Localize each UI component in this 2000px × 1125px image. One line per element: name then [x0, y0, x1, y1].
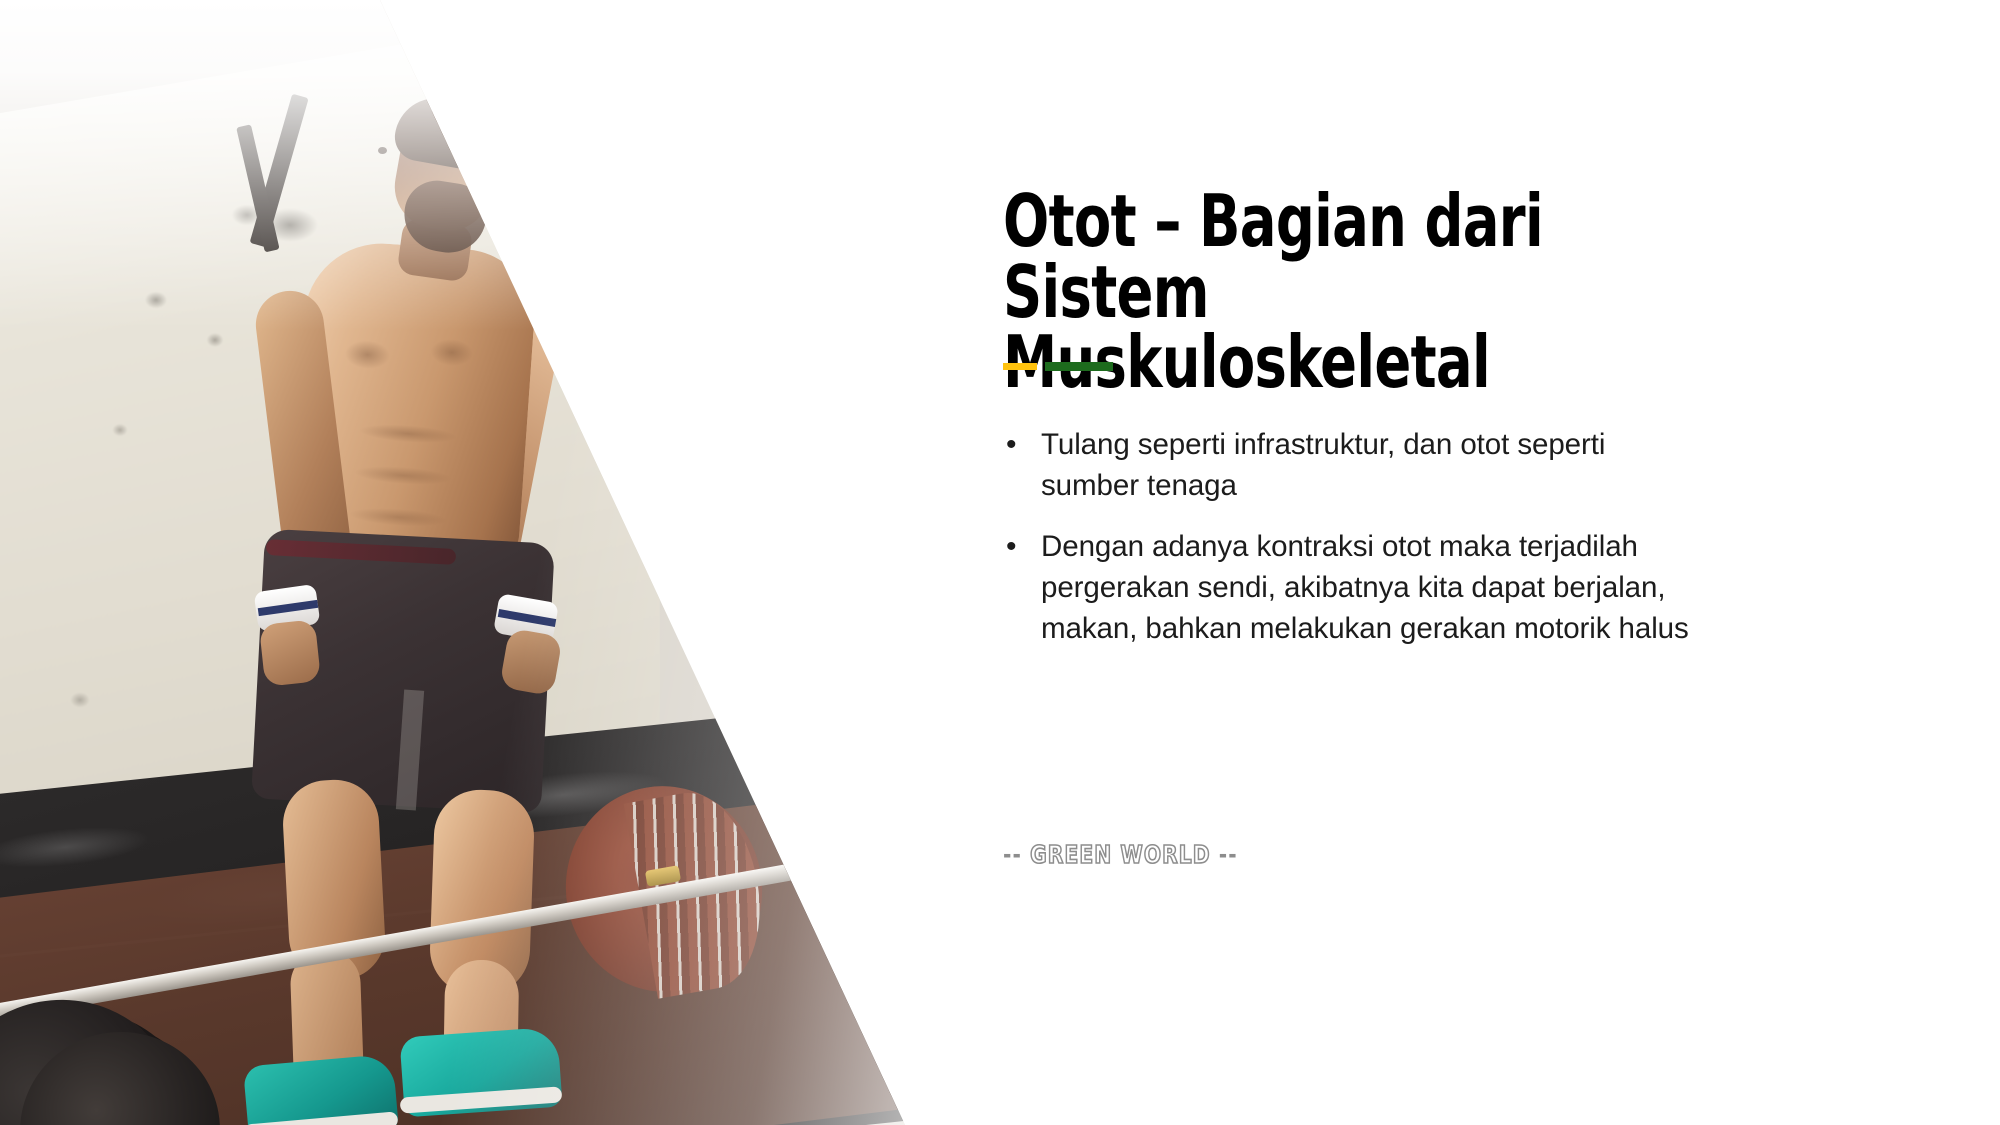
athlete-left-hand [259, 619, 321, 687]
slide-content: Otot – Bagian dari Sistem Muskuloskeleta… [1003, 0, 1703, 1125]
slide-photo [0, 0, 960, 1125]
accent-bar-yellow [1003, 363, 1037, 370]
bullet-marker-icon: • [1003, 424, 1041, 465]
athlete-figure [0, 0, 960, 1125]
presentation-slide: Otot – Bagian dari Sistem Muskuloskeleta… [0, 0, 2000, 1125]
photo-image [0, 0, 960, 1125]
athlete-right-hand [499, 628, 563, 696]
bullet-text: Dengan adanya kontraksi otot maka terjad… [1041, 526, 1693, 649]
bullet-list: • Tulang seperti infrastruktur, dan otot… [1003, 424, 1703, 669]
bullet-marker-icon: • [1003, 526, 1041, 567]
accent-bar-green [1045, 362, 1113, 371]
footer-brand: -- GREEN WORLD -- [1003, 840, 1238, 869]
accent-bars [1003, 362, 1113, 371]
footer-dash-left: -- [1003, 840, 1022, 869]
list-item: • Tulang seperti infrastruktur, dan otot… [1003, 424, 1703, 506]
bullet-text: Tulang seperti infrastruktur, dan otot s… [1041, 424, 1693, 506]
footer-brand-label: GREEN WORLD [1030, 840, 1211, 869]
footer-dash-right: -- [1219, 840, 1238, 869]
list-item: • Dengan adanya kontraksi otot maka terj… [1003, 526, 1703, 649]
